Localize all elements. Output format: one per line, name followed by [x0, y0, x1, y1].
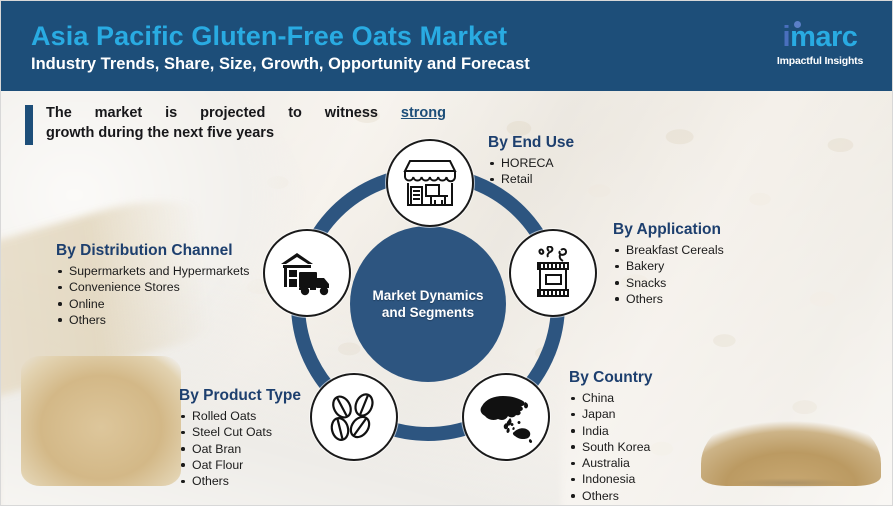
- header-banner: Asia Pacific Gluten-Free Oats Market Ind…: [1, 1, 893, 91]
- callout-line-1-text: The market is projected to witness: [46, 105, 378, 121]
- oat-pile-right-mound: [701, 406, 881, 486]
- logo-tagline: Impactful Insights: [760, 55, 880, 67]
- segment-application-title: By Application: [613, 221, 724, 239]
- segment-application-list: Breakfast Cereals Bakery Snacks Others: [613, 242, 724, 307]
- segment-distribution-channel-title: By Distribution Channel: [56, 242, 249, 260]
- list-item: HORECA: [488, 155, 574, 171]
- oat-pile-left-photo: [21, 356, 181, 486]
- list-item: Breakfast Cereals: [613, 242, 724, 258]
- list-item: Rolled Oats: [179, 408, 301, 424]
- logo-wordmark: imarc: [760, 19, 880, 53]
- oat-pile-right-photo: [701, 406, 881, 486]
- segment-distribution-channel-list: Supermarkets and Hypermarkets Convenienc…: [56, 263, 249, 328]
- list-item: Others: [56, 312, 249, 328]
- logo-text: imarc: [760, 23, 880, 52]
- callout-line-1: The market is projected to witness stron…: [46, 103, 446, 123]
- wheel-node-application[interactable]: [509, 229, 597, 317]
- segment-product-type-list: Rolled Oats Steel Cut Oats Oat Bran Oat …: [179, 408, 301, 489]
- segment-wheel: Market Dynamics and Segments: [273, 149, 583, 459]
- callout-text: The market is projected to witness stron…: [46, 103, 446, 143]
- wheel-node-distribution-channel[interactable]: [263, 229, 351, 317]
- wheel-hub-label: Market Dynamics and Segments: [372, 287, 483, 321]
- segment-product-type: By Product Type Rolled Oats Steel Cut Oa…: [179, 387, 301, 489]
- list-item: Others: [179, 473, 301, 489]
- list-item: Oat Bran: [179, 441, 301, 457]
- list-item: China: [569, 390, 653, 406]
- segment-country-title: By Country: [569, 369, 653, 387]
- wheel-hub: Market Dynamics and Segments: [350, 226, 506, 382]
- callout-strip: The market is projected to witness stron…: [25, 103, 446, 145]
- list-item: Steel Cut Oats: [179, 424, 301, 440]
- wheel-hub-line-2: and Segments: [382, 305, 474, 320]
- segment-country: By Country China Japan India South Korea…: [569, 369, 653, 504]
- list-item: Retail: [488, 171, 574, 187]
- list-item: India: [569, 423, 653, 439]
- wheel-node-country[interactable]: [462, 373, 550, 461]
- callout-strong-link[interactable]: strong: [401, 105, 446, 121]
- list-item: Others: [569, 488, 653, 504]
- segment-end-use: By End Use HORECA Retail: [488, 134, 574, 188]
- logo-letters-marc: marc: [790, 21, 857, 53]
- wheel-hub-line-1: Market Dynamics: [372, 288, 483, 303]
- snack-packet-icon: [527, 246, 579, 300]
- segment-product-type-title: By Product Type: [179, 387, 301, 405]
- list-item: Convenience Stores: [56, 279, 249, 295]
- list-item: Supermarkets and Hypermarkets: [56, 263, 249, 279]
- list-item: Australia: [569, 455, 653, 471]
- page-title: Asia Pacific Gluten-Free Oats Market: [31, 21, 507, 52]
- segment-end-use-title: By End Use: [488, 134, 574, 152]
- storefront-icon: [401, 157, 459, 209]
- asia-pacific-map-icon: [476, 390, 536, 444]
- wheel-node-end-use[interactable]: [386, 139, 474, 227]
- segment-application: By Application Breakfast Cereals Bakery …: [613, 221, 724, 307]
- list-item: Indonesia: [569, 471, 653, 487]
- page-subtitle: Industry Trends, Share, Size, Growth, Op…: [31, 55, 530, 74]
- oat-pile-left-mound: [21, 356, 181, 486]
- segment-distribution-channel: By Distribution Channel Supermarkets and…: [56, 242, 249, 328]
- list-item: Japan: [569, 406, 653, 422]
- callout-line-2: growth during the next five years: [46, 125, 274, 141]
- wheel-node-product-type[interactable]: [310, 373, 398, 461]
- list-item: Others: [613, 291, 724, 307]
- oat-grains-icon: [326, 391, 382, 443]
- oat-pile-right-shadow: [708, 476, 874, 490]
- list-item: Bakery: [613, 258, 724, 274]
- callout-accent-bar: [25, 105, 33, 145]
- list-item: South Korea: [569, 439, 653, 455]
- list-item: Snacks: [613, 275, 724, 291]
- list-item: Online: [56, 296, 249, 312]
- segment-country-list: China Japan India South Korea Australia …: [569, 390, 653, 504]
- warehouse-truck-icon: [277, 248, 337, 298]
- imarc-logo[interactable]: imarc Impactful Insights: [760, 19, 880, 75]
- infographic-canvas: Asia Pacific Gluten-Free Oats Market Ind…: [0, 0, 893, 506]
- logo-letter-i: i: [783, 21, 791, 53]
- list-item: Oat Flour: [179, 457, 301, 473]
- segment-end-use-list: HORECA Retail: [488, 155, 574, 188]
